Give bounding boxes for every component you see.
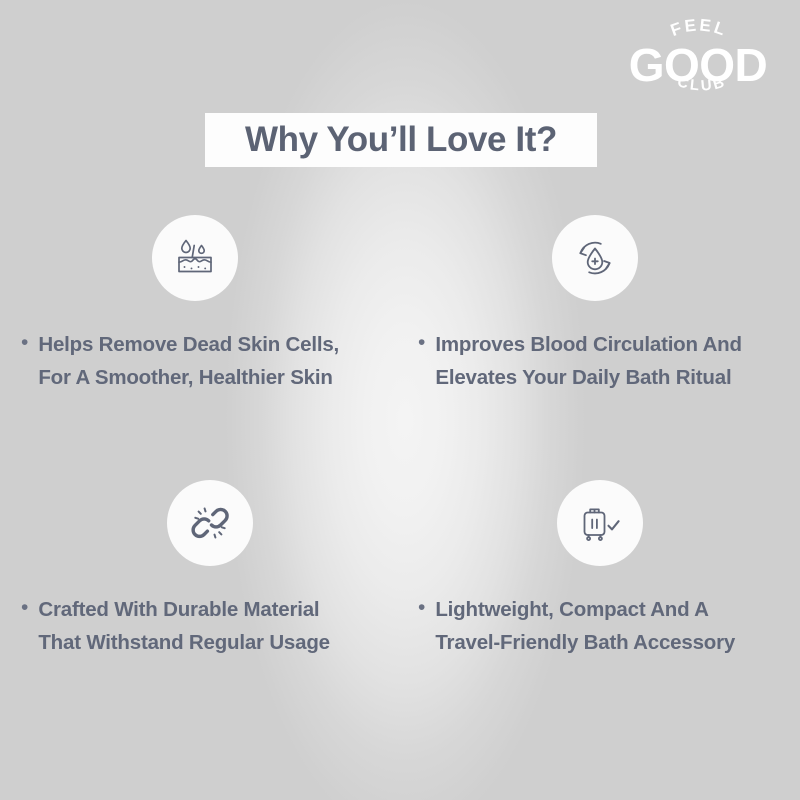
feature-icon-wrap-1 xyxy=(13,215,377,301)
bullet-icon-1: • xyxy=(21,328,28,357)
feature-icon-wrap-2 xyxy=(413,215,777,301)
feature-text-4-line1: Lightweight, Compact And A xyxy=(435,593,735,626)
skin-hydration-icon xyxy=(152,215,238,301)
feature-text-3: Crafted With Durable Material That Withs… xyxy=(38,593,330,659)
feature-grid: • Helps Remove Dead Skin Cells, For A Sm… xyxy=(0,215,800,745)
feature-text-row-3: • Crafted With Durable Material That Wit… xyxy=(18,593,382,659)
circulation-droplet-icon xyxy=(552,215,638,301)
page-title-banner: Why You’ll Love It? xyxy=(205,113,597,167)
feature-text-2-line2: Elevates Your Daily Bath Ritual xyxy=(435,361,741,394)
suitcase-check-icon xyxy=(557,480,643,566)
feature-text-3-line1: Crafted With Durable Material xyxy=(38,593,330,626)
feature-text-row-2: • Improves Blood Circulation And Elevate… xyxy=(418,328,782,394)
feature-icon-wrap-4 xyxy=(418,480,782,566)
feature-item-3: • Crafted With Durable Material That Wit… xyxy=(0,480,400,745)
feature-text-2: Improves Blood Circulation And Elevates … xyxy=(435,328,741,394)
feature-text-1: Helps Remove Dead Skin Cells, For A Smoo… xyxy=(38,328,339,394)
feature-text-2-line1: Improves Blood Circulation And xyxy=(435,328,741,361)
feature-item-4: • Lightweight, Compact And A Travel-Frie… xyxy=(400,480,800,745)
feel-good-club-logo: FEEL GOOD CLUB xyxy=(608,8,788,113)
page-title: Why You’ll Love It? xyxy=(245,120,557,160)
bullet-icon-3: • xyxy=(21,593,28,622)
chain-link-icon xyxy=(167,480,253,566)
logo-feel-text: FEEL xyxy=(668,15,730,40)
feature-text-1-line1: Helps Remove Dead Skin Cells, xyxy=(38,328,339,361)
bullet-icon-2: • xyxy=(418,328,425,357)
feature-text-row-4: • Lightweight, Compact And A Travel-Frie… xyxy=(418,593,782,659)
feature-text-row-1: • Helps Remove Dead Skin Cells, For A Sm… xyxy=(18,328,382,394)
feature-text-1-line2: For A Smoother, Healthier Skin xyxy=(38,361,339,394)
feature-item-1: • Helps Remove Dead Skin Cells, For A Sm… xyxy=(0,215,400,480)
feature-item-2: • Improves Blood Circulation And Elevate… xyxy=(400,215,800,480)
feature-text-3-line2: That Withstand Regular Usage xyxy=(38,626,330,659)
feature-text-4-line2: Travel-Friendly Bath Accessory xyxy=(435,626,735,659)
feature-text-4: Lightweight, Compact And A Travel-Friend… xyxy=(435,593,735,659)
bullet-icon-4: • xyxy=(418,593,425,622)
feature-icon-wrap-3 xyxy=(28,480,392,566)
